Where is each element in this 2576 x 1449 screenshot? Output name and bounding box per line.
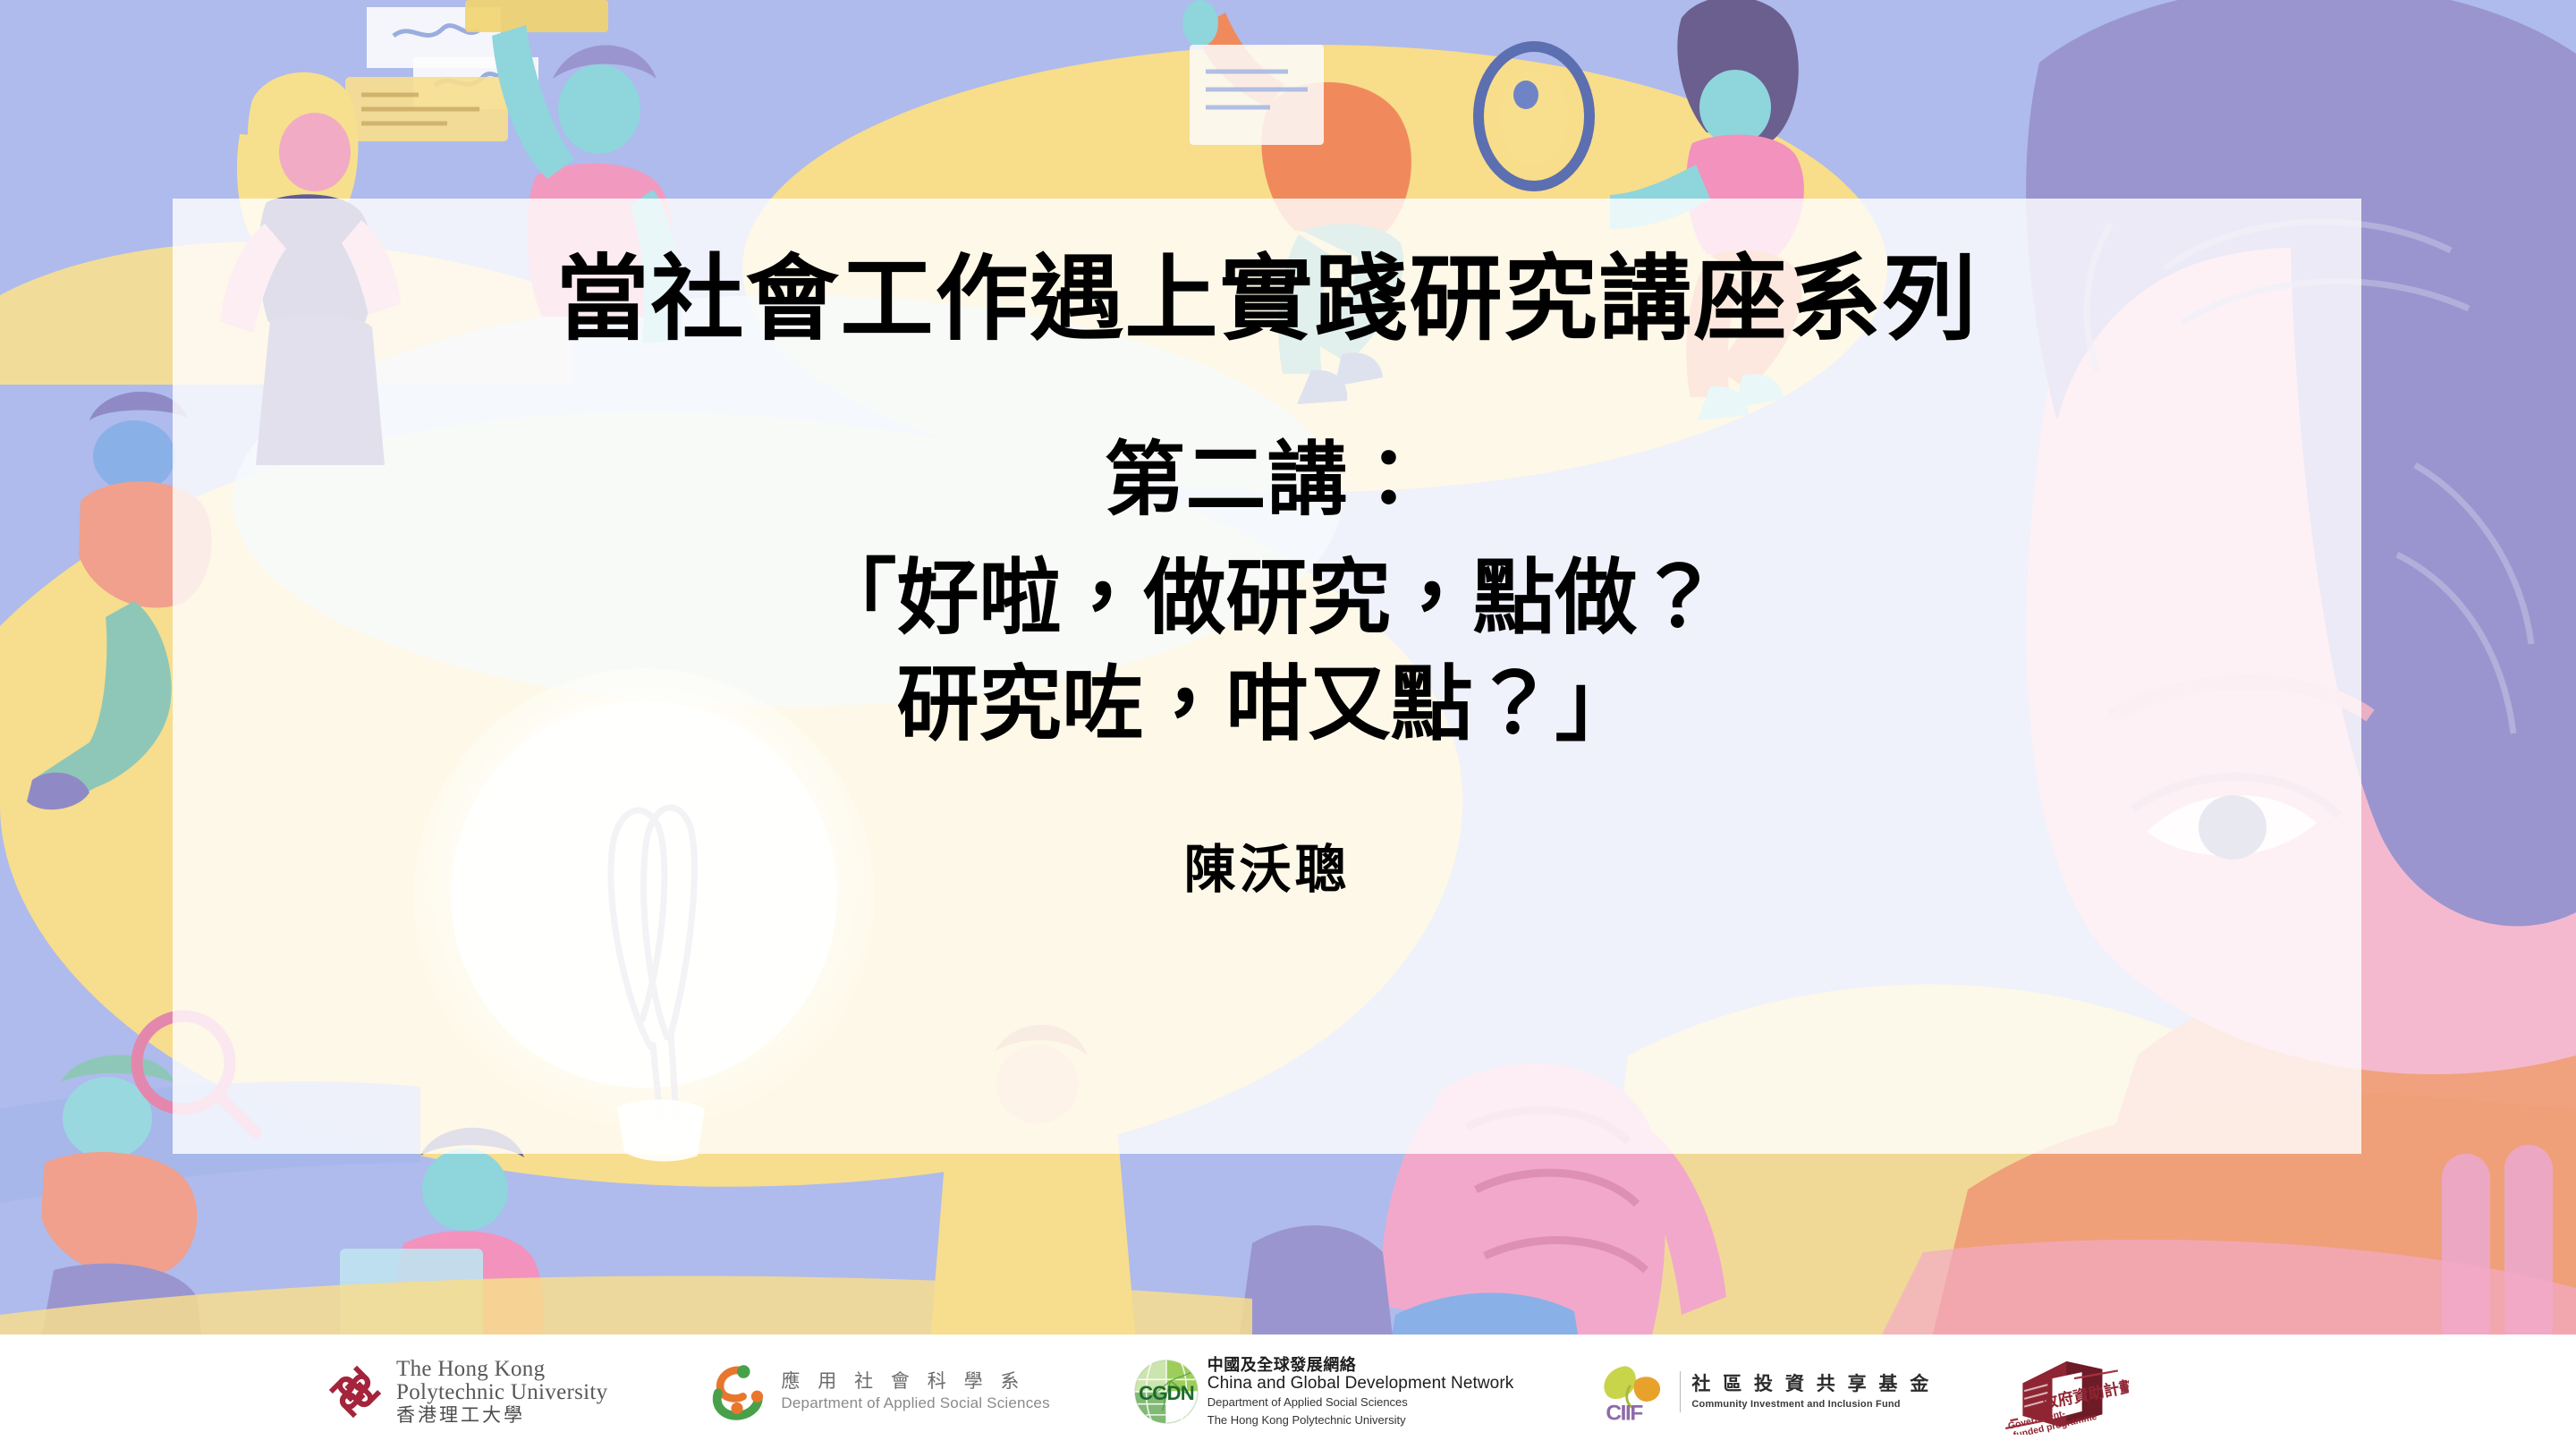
polyu-knot-icon: [326, 1363, 384, 1420]
cgdn-sub-1: Department of Applied Social Sciences: [1207, 1395, 1514, 1410]
polyu-text-block: The Hong Kong Polytechnic University 香港理…: [396, 1358, 607, 1426]
logo-cgdn: CGDN 中國及全球發展網絡 China and Global Developm…: [1132, 1356, 1514, 1428]
ciif-divider: [1680, 1371, 1681, 1412]
polyu-line-3: 香港理工大學: [396, 1406, 607, 1426]
cgdn-sub-2: The Hong Kong Polytechnic University: [1207, 1413, 1514, 1428]
cgdn-text-block: 中國及全球發展網絡 China and Global Development N…: [1207, 1356, 1514, 1428]
polyu-line-2: Polytechnic University: [396, 1381, 607, 1404]
apss-text-block: 應 用 社 會 科 學 系 Department of Applied Soci…: [781, 1371, 1049, 1412]
speaker-name: 陳沃聰: [1183, 827, 1350, 902]
cgdn-zh: 中國及全球發展網絡: [1207, 1356, 1514, 1374]
logo-applied-social-sciences: 應 用 社 會 科 學 系 Department of Applied Soci…: [706, 1362, 1049, 1421]
ciif-butterfly-icon: CIIF: [1596, 1360, 1669, 1424]
cgdn-globe-icon: CGDN: [1132, 1358, 1200, 1426]
ciif-en: Community Investment and Inclusion Fund: [1691, 1399, 1932, 1410]
apss-en: Department of Applied Social Sciences: [781, 1395, 1049, 1412]
presentation-slide: 當社會工作遇上實踐研究講座系列 第二講： 「好啦，做研究，點做？ 研究咗，咁又點…: [0, 0, 2576, 1449]
ciif-text-block: 社 區 投 資 共 享 基 金 Community Investment and…: [1691, 1374, 1932, 1410]
gov-building-icon: 政府資助計劃 Government- funded programme: [1995, 1349, 2129, 1435]
polyu-line-1: The Hong Kong: [396, 1358, 607, 1381]
title-panel: 當社會工作遇上實踐研究講座系列 第二講： 「好啦，做研究，點做？ 研究咗，咁又點…: [173, 199, 2361, 1154]
logo-ciif: CIIF 社 區 投 資 共 享 基 金 Community Investmen…: [1596, 1360, 1932, 1424]
svg-text:CGDN: CGDN: [1139, 1382, 1194, 1404]
sponsor-logo-bar: The Hong Kong Polytechnic University 香港理…: [0, 1335, 2576, 1449]
apss-zh: 應 用 社 會 科 學 系: [781, 1371, 1049, 1392]
logo-polyu: The Hong Kong Polytechnic University 香港理…: [326, 1358, 607, 1426]
lecture-number: 第二講：: [814, 428, 1719, 533]
logo-government-funded: 政府資助計劃 Government- funded programme: [1995, 1349, 2129, 1435]
lecture-topic-line-2: 研究咗，咁又點？」: [814, 652, 1719, 759]
ciif-zh: 社 區 投 資 共 享 基 金: [1691, 1374, 1932, 1395]
svg-text:CIIF: CIIF: [1606, 1402, 1644, 1424]
lecture-topic: 「好啦，做研究，點做？ 研究咗，咁又點？」: [814, 546, 1719, 759]
lecture-topic-line-1: 「好啦，做研究，點做？: [814, 546, 1719, 653]
cgdn-en: China and Global Development Network: [1207, 1374, 1514, 1393]
apss-swirl-icon: [706, 1362, 772, 1421]
series-title: 當社會工作遇上實踐研究講座系列: [555, 245, 1978, 355]
lecture-block: 第二講： 「好啦，做研究，點做？ 研究咗，咁又點？」: [814, 428, 1719, 759]
